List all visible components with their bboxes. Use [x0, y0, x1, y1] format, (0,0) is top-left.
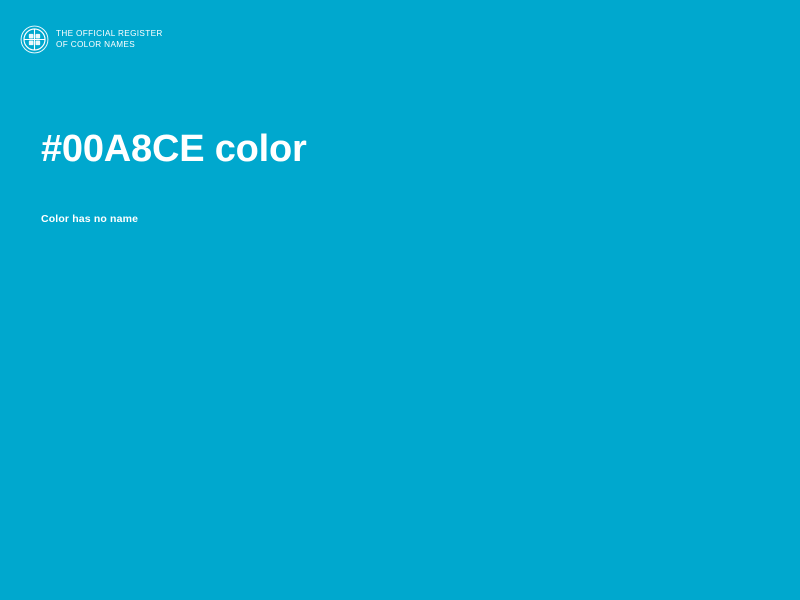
color-page: THE OFFICIAL REGISTER OF COLOR NAMES #00…: [0, 0, 800, 600]
brand-wordmark-line-1: THE OFFICIAL REGISTER: [56, 29, 163, 40]
color-name-status: Color has no name: [41, 212, 759, 226]
brand-logo[interactable]: THE OFFICIAL REGISTER OF COLOR NAMES: [20, 25, 163, 54]
page-title: #00A8CE color: [41, 126, 759, 172]
register-seal-icon: [20, 25, 49, 54]
brand-wordmark: THE OFFICIAL REGISTER OF COLOR NAMES: [56, 29, 163, 50]
brand-wordmark-line-2: OF COLOR NAMES: [56, 40, 163, 51]
color-info: #00A8CE color Color has no name: [41, 126, 759, 226]
